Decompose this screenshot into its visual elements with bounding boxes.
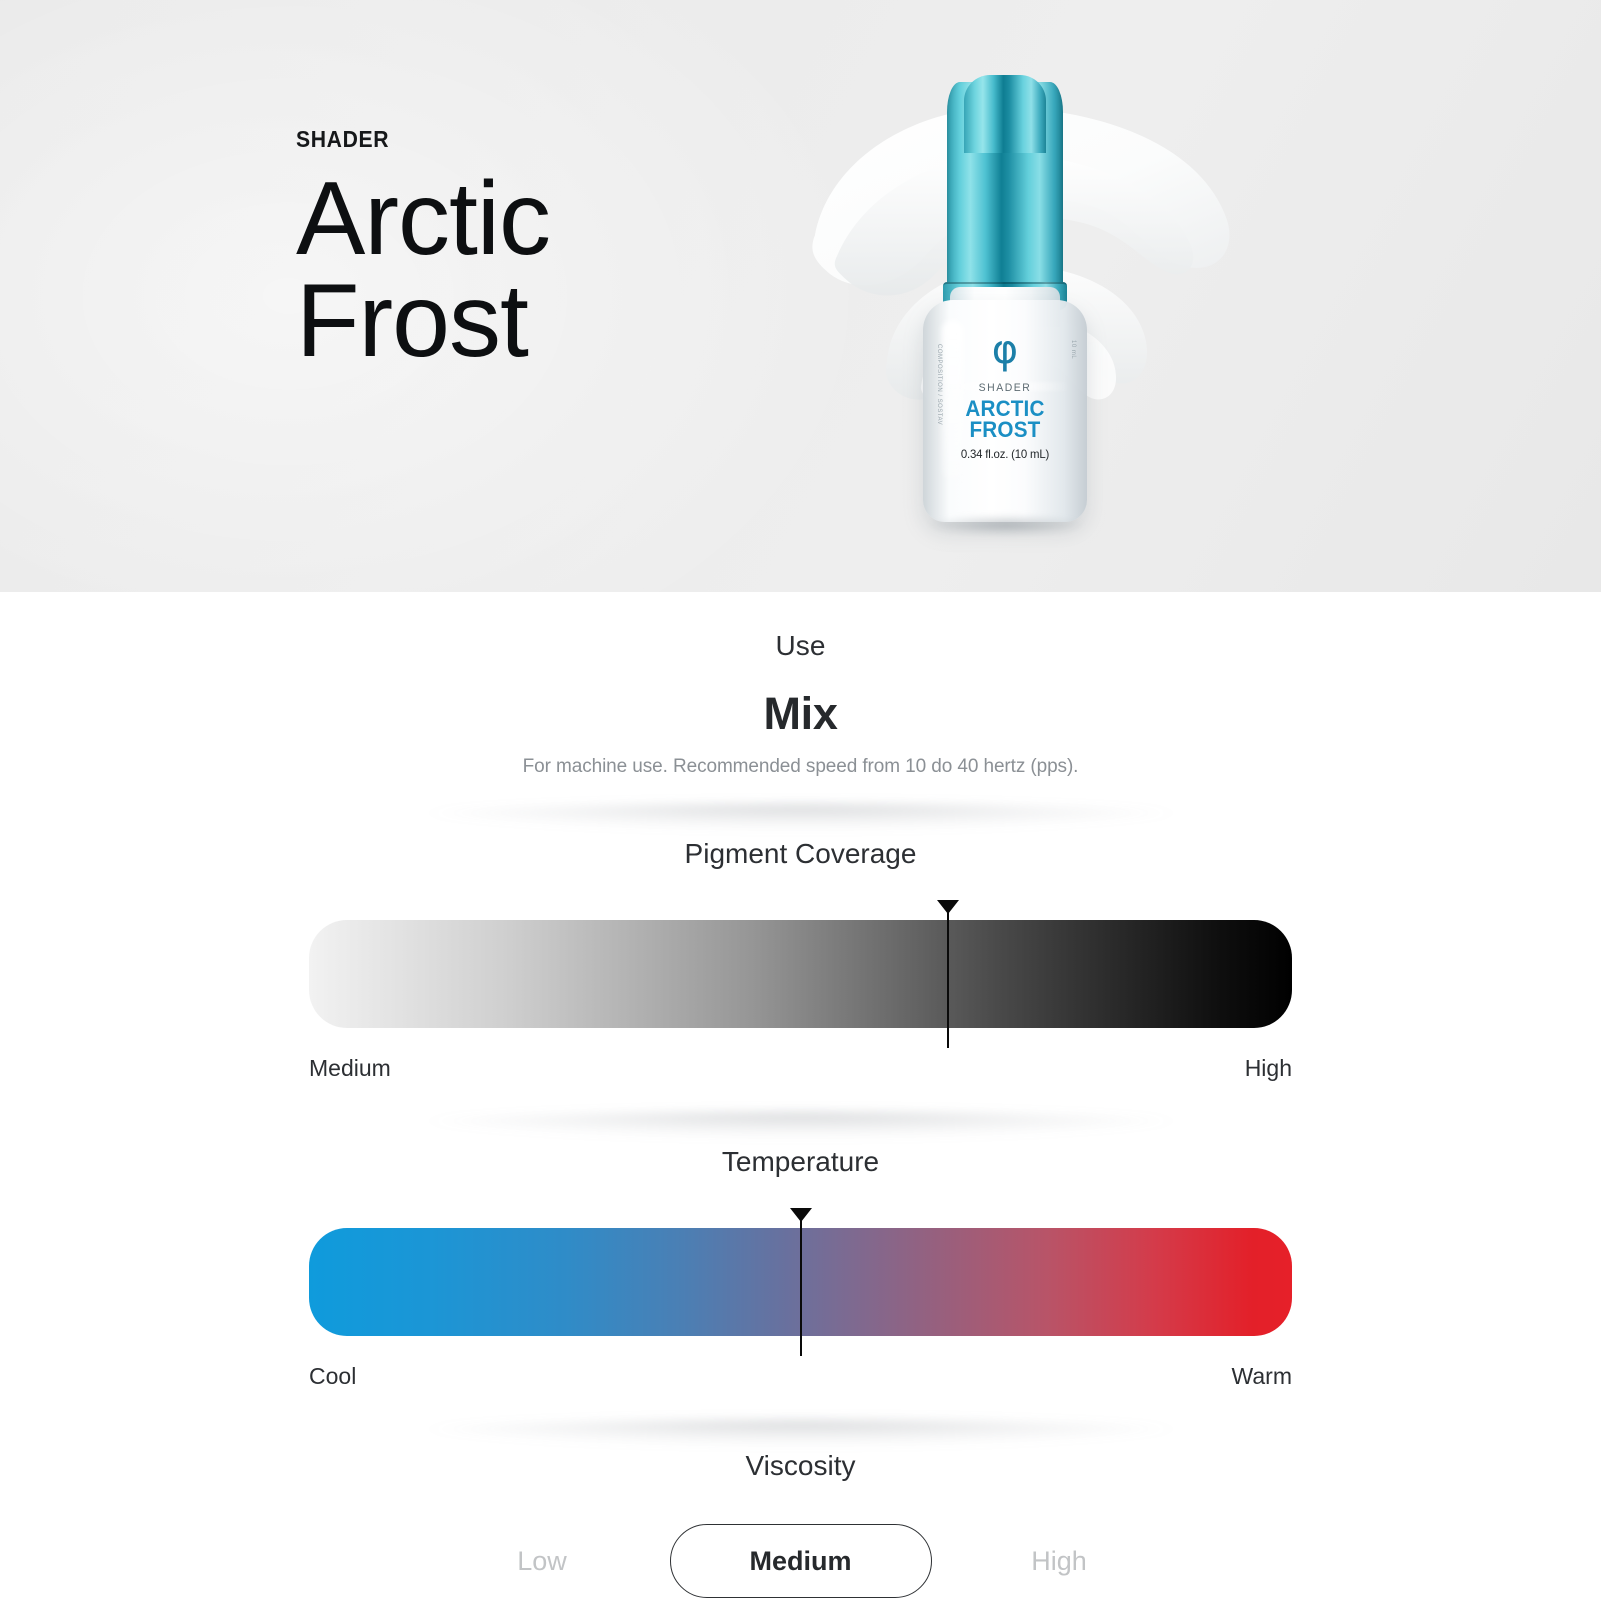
section-divider-3 bbox=[0, 1416, 1601, 1450]
temperature-min-label: Cool bbox=[309, 1363, 356, 1390]
bottle-side-text-left: COMPOSITION / SOSTAV bbox=[934, 344, 943, 425]
use-label: Use bbox=[0, 630, 1601, 662]
section-divider-2 bbox=[0, 1108, 1601, 1142]
use-value: Mix bbox=[0, 688, 1601, 740]
product-category-label: SHADER bbox=[296, 128, 811, 151]
pigment-coverage-slider[interactable] bbox=[309, 900, 1292, 1045]
pigment-coverage-title: Pigment Coverage bbox=[0, 838, 1601, 870]
section-divider-1 bbox=[0, 800, 1601, 834]
viscosity-option-high[interactable]: High bbox=[932, 1546, 1187, 1577]
phi-brand-logo-icon: φ bbox=[923, 332, 1087, 368]
product-image: φ SHADER ARCTIC FROST 0.34 fl.oz. (10 mL… bbox=[775, 60, 1245, 540]
bottle-drop-shadow bbox=[926, 514, 1086, 536]
viscosity-section: Viscosity Low Medium High bbox=[0, 1450, 1601, 1598]
bottle-cap-neck bbox=[947, 82, 1063, 152]
pigment-coverage-marker[interactable] bbox=[947, 900, 949, 1048]
temperature-slider[interactable] bbox=[309, 1208, 1292, 1353]
temperature-title: Temperature bbox=[0, 1146, 1601, 1178]
viscosity-title: Viscosity bbox=[0, 1450, 1601, 1482]
temperature-scale: Cool Warm bbox=[309, 1363, 1292, 1390]
use-note: For machine use. Recommended speed from … bbox=[0, 756, 1601, 778]
bottle-label: φ SHADER ARCTIC FROST 0.34 fl.oz. (10 mL… bbox=[923, 332, 1087, 461]
pigment-coverage-gradient-bar bbox=[309, 920, 1292, 1028]
hero-text-block: SHADER Arctic Frost bbox=[296, 128, 856, 373]
temperature-max-label: Warm bbox=[1232, 1363, 1292, 1390]
page-title-line-2: Frost bbox=[296, 263, 528, 379]
pigment-coverage-section: Pigment Coverage Medium High bbox=[0, 838, 1601, 1082]
viscosity-option-medium-selected[interactable]: Medium bbox=[670, 1524, 932, 1598]
temperature-marker[interactable] bbox=[800, 1208, 802, 1356]
hero-banner: SHADER Arctic Frost bbox=[0, 0, 1601, 592]
viscosity-option-low[interactable]: Low bbox=[415, 1546, 670, 1577]
page-title-line-1: Arctic bbox=[296, 161, 550, 277]
bottle-label-category: SHADER bbox=[927, 382, 1083, 394]
bottle-side-text-right: 10 mL bbox=[1068, 340, 1077, 359]
pigment-coverage-min-label: Medium bbox=[309, 1055, 391, 1082]
spec-panel: Use Mix For machine use. Recommended spe… bbox=[0, 592, 1601, 1598]
bottle-label-name-line-2: FROST bbox=[969, 417, 1040, 442]
pigment-coverage-scale: Medium High bbox=[309, 1055, 1292, 1082]
viscosity-options: Low Medium High bbox=[0, 1524, 1601, 1598]
pigment-coverage-max-label: High bbox=[1245, 1055, 1292, 1082]
page-title: Arctic Frost bbox=[296, 169, 856, 373]
bottle: φ SHADER ARCTIC FROST 0.34 fl.oz. (10 mL… bbox=[890, 82, 1120, 542]
temperature-section: Temperature Cool Warm bbox=[0, 1146, 1601, 1390]
bottle-label-volume: 0.34 fl.oz. (10 mL) bbox=[927, 447, 1083, 461]
bottle-label-name: ARCTIC FROST bbox=[928, 399, 1082, 440]
use-section: Use Mix For machine use. Recommended spe… bbox=[0, 592, 1601, 778]
